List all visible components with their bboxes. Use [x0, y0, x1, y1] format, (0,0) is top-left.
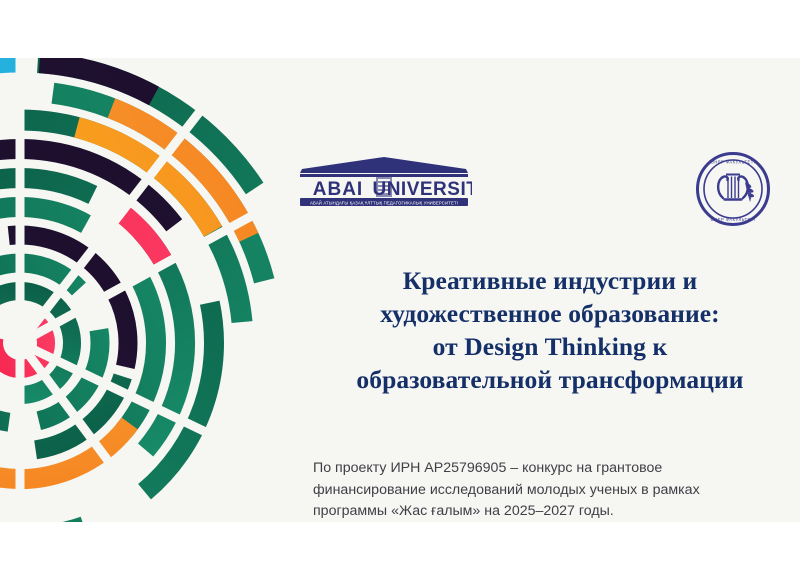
description-line-1: По проекту ИРН AP25796905 – конкурс на г…	[313, 458, 785, 480]
abai-wordmark-right: UNIVERSITY	[372, 179, 472, 200]
seal-ring-text-bottom: ӨНЕР ФАКУЛЬТЕТІ	[711, 217, 756, 222]
slide-title: Креативные индустрии и художественное об…	[312, 264, 788, 396]
seal-ring-text-top: ӨНЕР ФАКУЛЬТЕТІ	[711, 160, 756, 165]
title-line-2: художественное образование:	[312, 297, 788, 330]
project-description: По проекту ИРН AP25796905 – конкурс на г…	[313, 458, 785, 522]
abai-subtitle: АБАЙ АТЫНДАҒЫ ҚАЗАҚ ҰЛТТЫҚ ПЕДАГОГИКАЛЫҚ…	[310, 200, 458, 205]
description-line-3: программы «Жас ғалым» на 2025–2027 годы.	[313, 501, 785, 522]
abai-wordmark-left: ABAI	[313, 179, 363, 200]
presentation-slide: ABAI UNIVERSITY АБАЙ АТЫНДАҒЫ ҚАЗАҚ ҰЛТТ…	[0, 58, 800, 522]
description-line-2: финансирование исследований молодых учен…	[313, 480, 785, 502]
slide-canvas: ABAI UNIVERSITY АБАЙ АТЫНДАҒЫ ҚАЗАҚ ҰЛТТ…	[0, 0, 800, 580]
circular-labyrinth-graphic	[0, 58, 320, 522]
title-line-1: Креативные индустрии и	[312, 264, 788, 297]
faculty-seal-emblem: ӨНЕР ФАКУЛЬТЕТІ ӨНЕР ФАКУЛЬТЕТІ	[696, 152, 770, 226]
abai-university-logo: ABAI UNIVERSITY АБАЙ АТЫНДАҒЫ ҚАЗАҚ ҰЛТТ…	[296, 156, 472, 208]
title-line-3: от Design Thinking к	[312, 330, 788, 363]
title-line-4: образовательной трансформации	[312, 363, 788, 396]
